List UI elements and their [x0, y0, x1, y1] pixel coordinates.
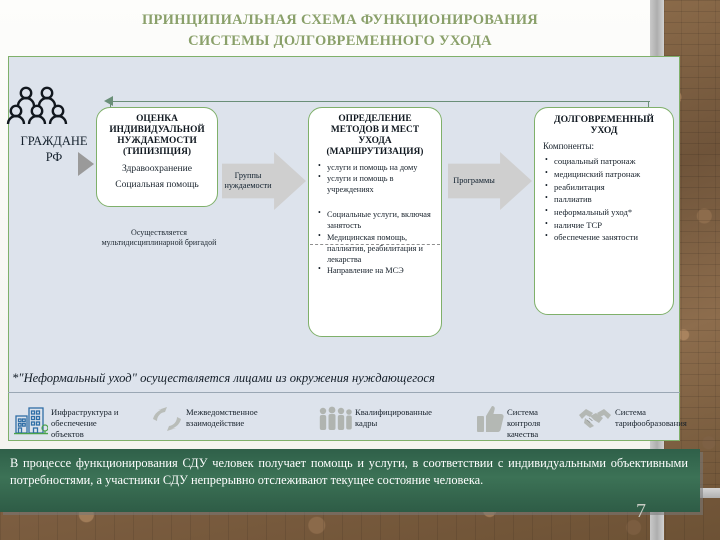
box2-heading-2: МЕТОДОВ И МЕСТ	[314, 125, 436, 136]
box2-heading-4: (МАРШРУТИЗАЦИЯ)	[314, 147, 436, 158]
box1-heading-4: (ТИПИЗПЦИЯ)	[102, 147, 212, 158]
box2-heading-1: ОПРЕДЕЛЕНИЕ	[314, 114, 436, 125]
list-item: услуги и помощь в учреждениях	[327, 173, 436, 195]
pillar-qualified-staff[interactable]: Квалифицированные кадры	[318, 404, 432, 434]
pillar-interagency-label: Межведомственное взаимодействие	[186, 404, 258, 429]
footnote-divider	[8, 392, 680, 393]
arrow-programs-label: Программы	[448, 176, 500, 186]
box2-top-list: услуги и помощь на дому услуги и помощь …	[314, 162, 436, 196]
citizens-label-line-1: ГРАЖДАНЕ	[6, 134, 102, 148]
list-item: Медицинская помощь, паллиатив, реабилита…	[327, 232, 436, 265]
box1-heading-3: НУЖДАЕМОСТИ	[102, 136, 212, 147]
box3-components-list: социальный патронаж медицинский патронаж…	[541, 155, 667, 243]
box1-sub-social-aid: Социальная помощь	[102, 179, 212, 190]
recycle-arrows-icon	[151, 404, 183, 434]
feedback-loop-line	[110, 101, 650, 102]
handshake-icon	[578, 404, 612, 430]
pillar-infrastructure-label: Инфраструктура и обеспечение объектов	[51, 404, 119, 441]
feedback-arrow-head-icon	[104, 96, 113, 106]
box3-heading-2: УХОД	[541, 125, 667, 136]
pillar-interagency[interactable]: Межведомственное взаимодействие	[151, 404, 258, 434]
box2-bottom-list: Социальные услуги, включая занятость Мед…	[314, 209, 436, 276]
box2-dashed-separator	[310, 244, 440, 245]
title-line-1: ПРИНЦИПИАЛЬНАЯ СХЕМА ФУНКЦИОНИРОВАНИЯ	[142, 12, 538, 28]
pillar-qualified-staff-label: Квалифицированные кадры	[355, 404, 432, 429]
list-item: медицинский патронаж	[554, 168, 667, 180]
people-staff-icon	[318, 404, 352, 434]
slide-canvas: ПРИНЦИПИАЛЬНАЯ СХЕМА ФУНКЦИОНИРОВАНИЯ СИ…	[0, 0, 720, 540]
building-infrastructure-icon	[14, 404, 48, 436]
box1-caption: Осуществляется мультидисциплинарной бриг…	[96, 228, 222, 248]
thumbs-up-icon	[476, 404, 504, 434]
list-item: обеспечение занятости	[554, 231, 667, 243]
box1-sub-healthcare: Здравоохранение	[102, 163, 212, 174]
pillar-tariff-system-label: Система тарифообразования	[615, 404, 687, 429]
list-item: социальный патронаж	[554, 155, 667, 167]
summary-banner: В процессе функционирования СДУ человек …	[0, 449, 700, 512]
pillar-tariff-system[interactable]: Система тарифообразования	[578, 404, 687, 430]
page-number: 7	[636, 500, 646, 523]
summary-banner-text: В процессе функционирования СДУ человек …	[0, 449, 700, 489]
list-item: реабилитация	[554, 181, 667, 193]
box-care-routing[interactable]: ОПРЕДЕЛЕНИЕ МЕТОДОВ И МЕСТ УХОДА (МАРШРУ…	[308, 107, 442, 337]
list-item: услуги и помощь на дому	[327, 162, 436, 173]
list-item: паллиатив	[554, 193, 667, 205]
footnote-informal-care: *"Неформальный уход" осуществляется лица…	[12, 371, 612, 386]
box1-heading-1: ОЦЕНКА	[102, 114, 212, 125]
box-long-term-care[interactable]: ДОЛГОВРЕМЕННЫЙ УХОД Компоненты: социальн…	[534, 107, 674, 315]
list-item: наличие ТСР	[554, 219, 667, 231]
pillar-quality-control-label: Система контроля качества	[507, 404, 540, 441]
box2-heading-3: УХОДА	[314, 136, 436, 147]
list-item: неформальный уход*	[554, 206, 667, 218]
title-line-2: СИСТЕМЫ ДОЛГОВРЕМЕННОГО УХОДА	[188, 33, 492, 49]
arrow-need-groups-label: Группы нуждаемости	[222, 171, 274, 191]
support-pillars-row: Инфраструктура и обеспечение объектов Ме…	[8, 400, 720, 450]
list-item: Направление на МСЭ	[327, 265, 436, 276]
box1-heading-2: ИНДИВИДУАЛЬНОЙ	[102, 125, 212, 136]
pillar-infrastructure[interactable]: Инфраструктура и обеспечение объектов	[14, 404, 119, 441]
box3-components-label: Компоненты:	[543, 141, 667, 151]
box3-heading-1: ДОЛГОВРЕМЕННЫЙ	[541, 114, 667, 125]
list-item: Социальные услуги, включая занятость	[327, 209, 436, 231]
box-individual-needs-assessment[interactable]: ОЦЕНКА ИНДИВИДУАЛЬНОЙ НУЖДАЕМОСТИ (ТИПИЗ…	[96, 107, 218, 207]
slide-title: ПРИНЦИПИАЛЬНАЯ СХЕМА ФУНКЦИОНИРОВАНИЯ СИ…	[30, 10, 650, 51]
pillar-quality-control[interactable]: Система контроля качества	[476, 404, 540, 441]
citizens-to-box1-arrow-icon	[78, 152, 94, 176]
people-group-icon	[6, 86, 102, 132]
